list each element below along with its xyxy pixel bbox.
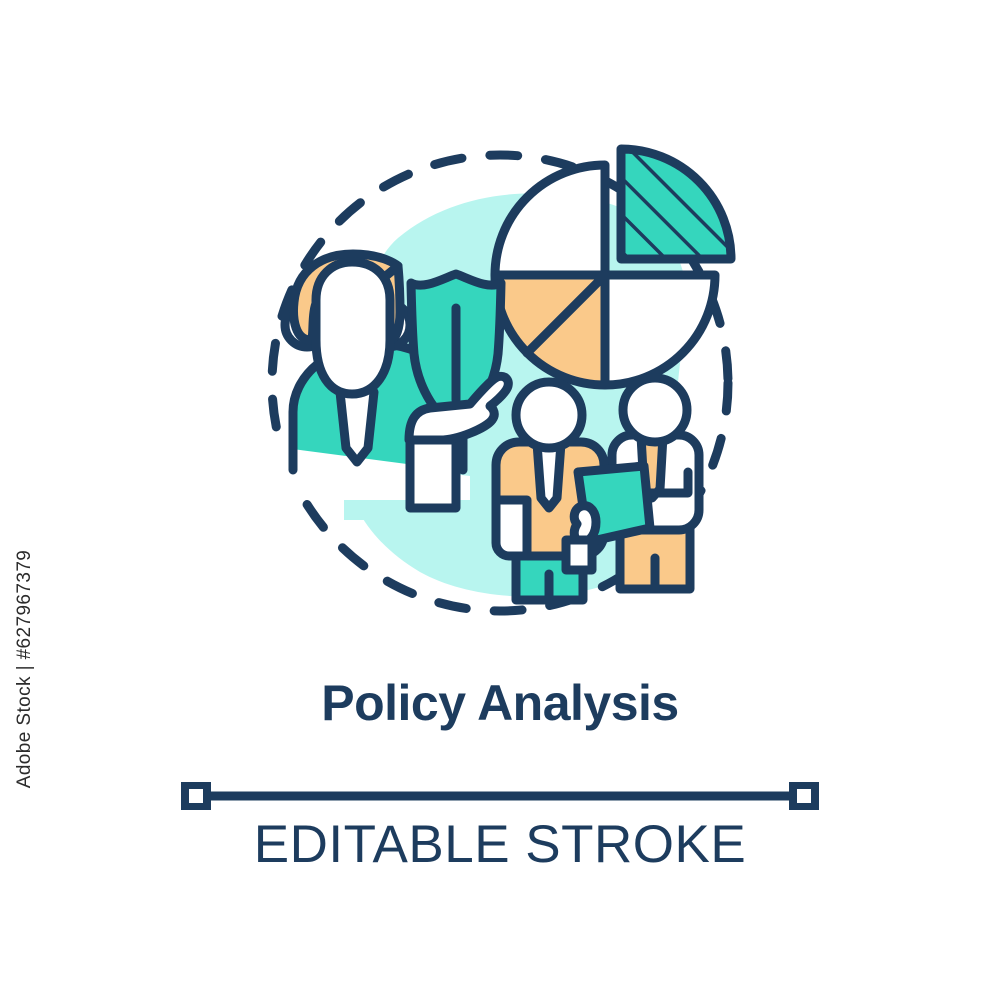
- orange-shirt-person-head: [516, 382, 582, 448]
- concept-subtitle: EDITABLE STROKE: [0, 818, 1000, 871]
- stock-watermark: Adobe Stock | #627967379: [14, 529, 42, 809]
- clipboard-forearm: [566, 540, 592, 570]
- concept-icon-canvas: Policy Analysis EDITABLE STROKE Adobe St…: [0, 0, 1000, 1000]
- pie-slice-top-left: [495, 165, 605, 275]
- subtitle-text: EDITABLE STROKE: [254, 818, 746, 871]
- divider-handle-left: [185, 785, 207, 807]
- divider-handle-right: [793, 785, 815, 807]
- orange-shirt-person-tie: [537, 443, 561, 508]
- concept-title: Policy Analysis: [0, 678, 1000, 728]
- title-text: Policy Analysis: [321, 678, 679, 728]
- pie-slice-bottom-right: [605, 275, 715, 385]
- pie-slice-exploded-top-right: [621, 149, 731, 259]
- white-shirt-person-head: [623, 378, 687, 442]
- divider: [0, 782, 1000, 810]
- pedestal-column: [410, 440, 456, 508]
- businessman-head: [316, 262, 390, 394]
- orange-shirt-person-sleeve: [496, 500, 527, 556]
